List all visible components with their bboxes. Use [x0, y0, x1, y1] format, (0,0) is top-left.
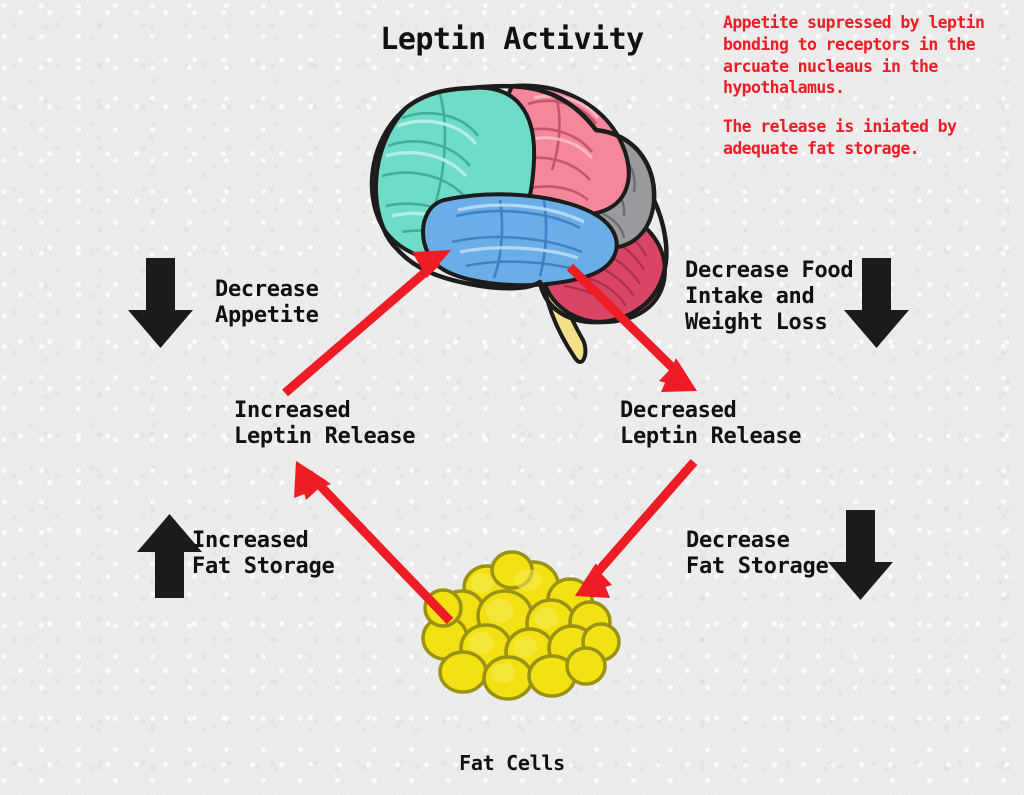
note-paragraph-1: Appetite supressed by leptin bonding to … — [723, 12, 1013, 99]
label-increased-fat-storage: Increased Fat Storage — [192, 528, 334, 580]
arrow-down-icon-decrease-appetite — [128, 258, 193, 348]
arrow-down-icon-decrease-fat-storage — [828, 510, 893, 600]
note-paragraph-2: The release is iniated by adequate fat s… — [723, 116, 1013, 160]
label-decreased-leptin-release: Decreased Leptin Release — [620, 398, 801, 450]
flow-arrow-brain-to-decreased-leptin — [570, 267, 697, 392]
arrow-down-icon-decrease-food-intake — [844, 258, 909, 348]
flow-arrow-decreased-leptin-to-fat-cells — [575, 462, 694, 598]
annotation-note: Appetite supressed by leptin bonding to … — [723, 12, 1013, 160]
label-decrease-fat-storage: Decrease Fat Storage — [686, 528, 828, 580]
label-decrease-appetite: Decrease Appetite — [215, 277, 319, 329]
label-decrease-food-intake: Decrease Food Intake and Weight Loss — [685, 258, 853, 336]
label-fat-cells: Fat Cells — [0, 752, 1024, 776]
diagram-canvas: Leptin Activity Appetite supressed by le… — [0, 0, 1024, 795]
label-increased-leptin-release: Increased Leptin Release — [234, 398, 415, 450]
